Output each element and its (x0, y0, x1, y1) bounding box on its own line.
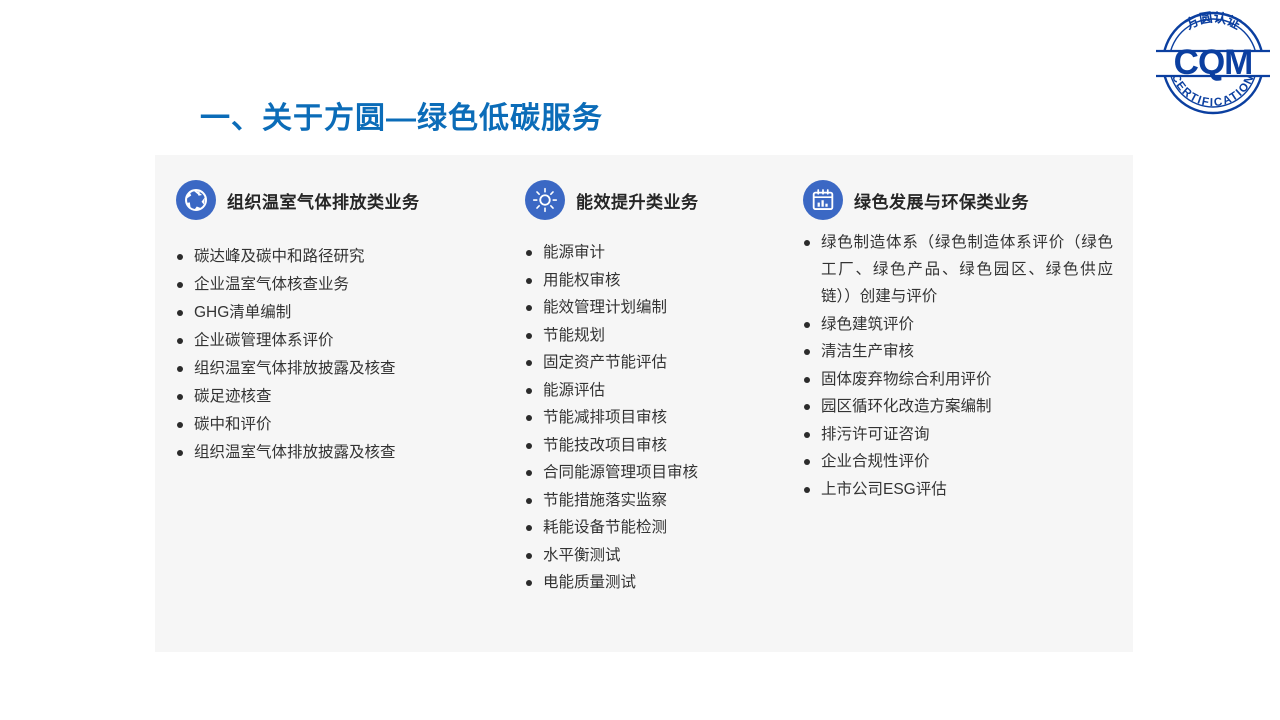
list-item: 节能减排项目审核 (525, 404, 800, 431)
column-heading-label: 能效提升类业务 (576, 188, 699, 213)
list-item: 用能权审核 (525, 267, 800, 294)
sun-icon (525, 180, 565, 220)
column-heading-label: 组织温室气体排放类业务 (227, 188, 420, 213)
list-item: 水平衡测试 (525, 542, 800, 569)
content-panel: 组织温室气体排放类业务 碳达峰及碳中和路径研究 企业温室气体核查业务 GHG清单… (155, 155, 1133, 652)
list-item: 节能技改项目审核 (525, 432, 800, 459)
list-item: 组织温室气体排放披露及核查 (176, 439, 521, 466)
list-item: 企业温室气体核查业务 (176, 271, 521, 298)
service-column-efficiency: 能效提升类业务 能源审计 用能权审核 能效管理计划编制 节能规划 固定资产节能评… (525, 179, 800, 597)
aperture-icon (176, 180, 216, 220)
list-item: 电能质量测试 (525, 569, 800, 596)
list-item: 碳中和评价 (176, 411, 521, 438)
list-item: 企业碳管理体系评价 (176, 327, 521, 354)
calendar-chart-icon (803, 180, 843, 220)
service-list: 碳达峰及碳中和路径研究 企业温室气体核查业务 GHG清单编制 企业碳管理体系评价… (176, 243, 521, 466)
list-item: 节能措施落实监察 (525, 487, 800, 514)
list-item: 园区循环化改造方案编制 (803, 393, 1113, 420)
service-list: 能源审计 用能权审核 能效管理计划编制 节能规划 固定资产节能评估 能源评估 节… (525, 239, 800, 596)
list-item: 排污许可证咨询 (803, 421, 1113, 448)
column-header: 能效提升类业务 (525, 179, 800, 221)
list-item: 合同能源管理项目审核 (525, 459, 800, 486)
list-item: 碳达峰及碳中和路径研究 (176, 243, 521, 270)
list-item: 固体废弃物综合利用评价 (803, 366, 1113, 393)
columns-container: 组织温室气体排放类业务 碳达峰及碳中和路径研究 企业温室气体核查业务 GHG清单… (155, 155, 1133, 652)
page-title: 一、关于方圆—绿色低碳服务 (200, 93, 603, 137)
slide-canvas: 方圆认证 CERTIFICATION CQM 一、关于方圆—绿色低碳服务 (0, 0, 1280, 720)
list-item: 组织温室气体排放披露及核查 (176, 355, 521, 382)
service-list: 绿色制造体系（绿色制造体系评价（绿色工厂、绿色产品、绿色园区、绿色供应链））创建… (803, 229, 1113, 503)
list-item: 节能规划 (525, 322, 800, 349)
list-item: 能源审计 (525, 239, 800, 266)
list-item: 能源评估 (525, 377, 800, 404)
cqm-logo: 方圆认证 CERTIFICATION CQM (1154, 4, 1272, 122)
list-item: 能效管理计划编制 (525, 294, 800, 321)
list-item: 绿色建筑评价 (803, 311, 1113, 338)
column-header: 组织温室气体排放类业务 (176, 179, 521, 221)
list-item: 碳足迹核查 (176, 383, 521, 410)
list-item: 固定资产节能评估 (525, 349, 800, 376)
column-heading-label: 绿色发展与环保类业务 (854, 188, 1029, 213)
list-item: 上市公司ESG评估 (803, 476, 1113, 503)
list-item: 清洁生产审核 (803, 338, 1113, 365)
list-item: 企业合规性评价 (803, 448, 1113, 475)
list-item: 绿色制造体系（绿色制造体系评价（绿色工厂、绿色产品、绿色园区、绿色供应链））创建… (803, 229, 1113, 310)
list-item: GHG清单编制 (176, 299, 521, 326)
service-column-green-development: 绿色发展与环保类业务 绿色制造体系（绿色制造体系评价（绿色工厂、绿色产品、绿色园… (803, 179, 1113, 503)
column-header: 绿色发展与环保类业务 (803, 179, 1113, 221)
list-item: 耗能设备节能检测 (525, 514, 800, 541)
service-column-ghg: 组织温室气体排放类业务 碳达峰及碳中和路径研究 企业温室气体核查业务 GHG清单… (176, 179, 521, 467)
